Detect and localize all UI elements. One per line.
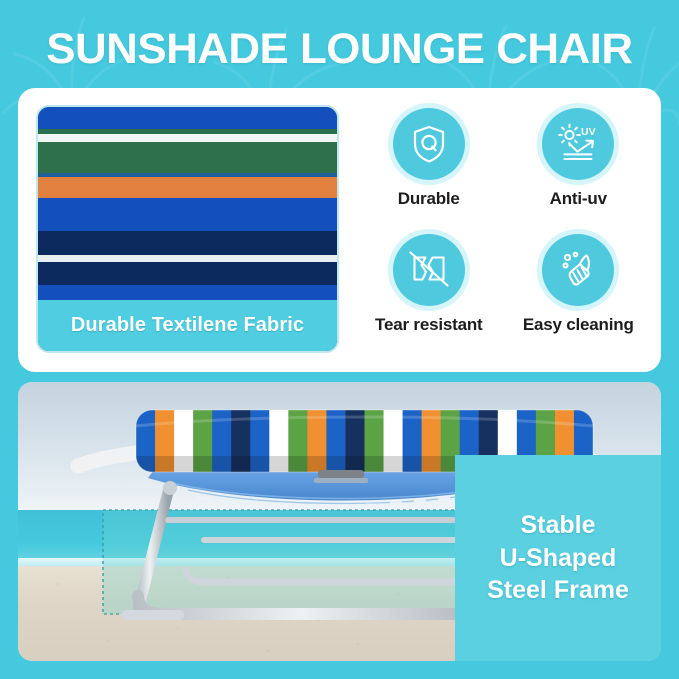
- feature-list: Durable UV: [356, 108, 651, 356]
- caption-line-3: Steel Frame: [487, 574, 629, 607]
- page-title-wrapper: SUNSHADE LOUNGE CHAIR: [0, 19, 679, 79]
- fabric-stripe: [38, 107, 337, 129]
- fabric-stripe: [38, 142, 337, 174]
- fabric-caption-text: Durable Textilene Fabric: [71, 314, 304, 337]
- feature-label: Tear resistant: [375, 315, 482, 335]
- photo-caption-block: Stable U-Shaped Steel Frame: [455, 455, 661, 661]
- fabric-stripe: [38, 198, 337, 231]
- fabric-stripe: [38, 262, 337, 285]
- fabric-stripe: [38, 231, 337, 255]
- caption-line-2: U-Shaped: [487, 542, 629, 575]
- page-title: SUNSHADE LOUNGE CHAIR: [46, 28, 632, 71]
- feature-card: Durable Textilene Fabric Durable: [18, 88, 661, 372]
- brush-bubbles-icon: [542, 234, 614, 306]
- torn-fabric-slash-icon: [393, 234, 465, 306]
- svg-text:UV: UV: [581, 126, 596, 138]
- feature-label: Easy cleaning: [523, 315, 634, 335]
- feature-item-tear-resistant[interactable]: Tear resistant: [356, 234, 502, 356]
- caption-line-1: Stable: [487, 509, 629, 542]
- product-photo-panel: Stable U-Shaped Steel Frame: [18, 382, 661, 661]
- fabric-caption-bar: Durable Textilene Fabric: [38, 300, 337, 351]
- infographic-page: SUNSHADE LOUNGE CHAIR Durable Textilene …: [0, 0, 679, 679]
- sun-uv-deflect-icon: UV: [542, 108, 614, 180]
- shield-q-icon: [393, 108, 465, 180]
- feature-item-anti-uv[interactable]: UV Anti-uv: [506, 108, 652, 230]
- feature-label: Durable: [398, 189, 460, 209]
- fabric-swatch: Durable Textilene Fabric: [36, 105, 339, 353]
- photo-caption-text: Stable U-Shaped Steel Frame: [487, 509, 629, 607]
- feature-item-durable[interactable]: Durable: [356, 108, 502, 230]
- fabric-stripe: [38, 177, 337, 198]
- feature-item-easy-cleaning[interactable]: Easy cleaning: [506, 234, 652, 356]
- fabric-stripe: [38, 134, 337, 141]
- feature-label: Anti-uv: [550, 189, 607, 209]
